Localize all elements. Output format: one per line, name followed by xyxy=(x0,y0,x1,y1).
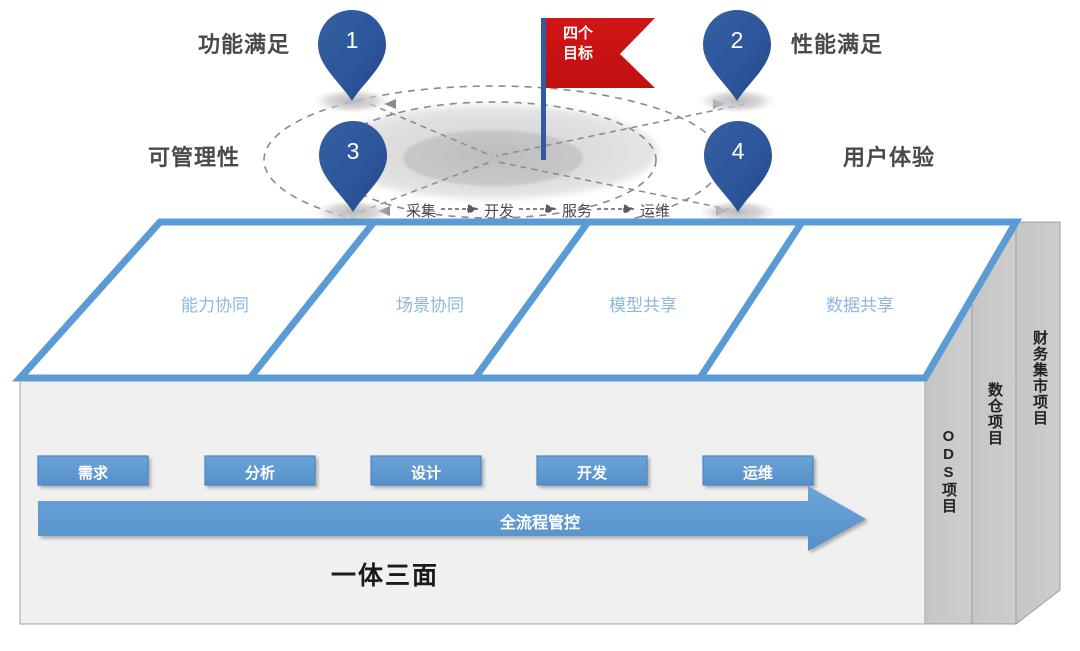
top-panel-label-2: 场景协同 xyxy=(375,291,485,316)
stage-button-label-5: 运维 xyxy=(703,462,813,483)
side-panel-label-2: 数仓项目 xyxy=(987,382,1002,446)
stage-button-label-1: 需求 xyxy=(38,462,148,483)
stage-button-label-3: 设计 xyxy=(371,462,481,483)
top-panel-label-3: 模型共享 xyxy=(588,291,698,316)
process-banner-label: 全流程管控 xyxy=(0,509,1080,533)
stage-button-label-4: 开发 xyxy=(537,462,647,483)
diagram-bottom-title: 一体三面 xyxy=(331,556,439,592)
stage-button-label-2: 分析 xyxy=(205,462,315,483)
top-panel-label-4: 数据共享 xyxy=(805,291,915,316)
top-panel-label-1: 能力协同 xyxy=(160,291,270,316)
side-panel-label-1: ODS项目 xyxy=(941,428,956,514)
diagram-canvas: 功能满足 性能满足 可管理性 用户体验 1 2 3 4 四个 目标 采集 开发 … xyxy=(0,0,1080,651)
side-panel-label-3: 财务集市项目 xyxy=(1032,330,1047,426)
isometric-box-layer xyxy=(0,0,1080,651)
